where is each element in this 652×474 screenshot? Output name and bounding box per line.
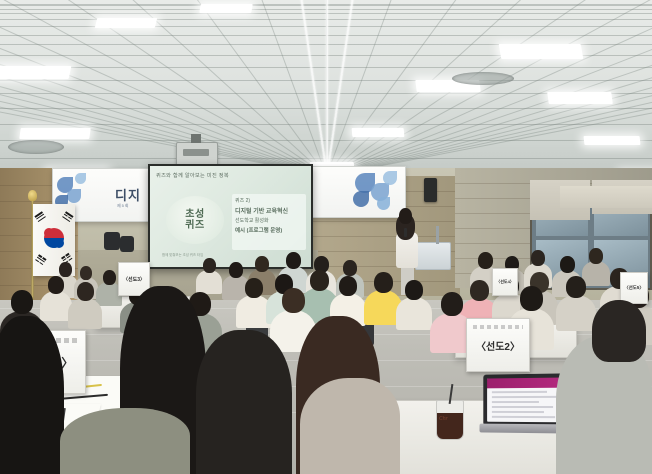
audience-member-torso bbox=[68, 298, 102, 329]
audience-member-head bbox=[589, 248, 603, 264]
audience-member-head bbox=[103, 270, 116, 285]
audience-member-torso bbox=[556, 295, 596, 331]
laptop-header-bar bbox=[487, 377, 566, 388]
audience-member-head bbox=[282, 288, 305, 313]
audience-member-head bbox=[77, 282, 94, 301]
audience-member bbox=[556, 276, 596, 334]
iced-coffee-cup: Chr bbox=[436, 400, 464, 440]
audience-member-head bbox=[478, 252, 493, 269]
tent-card: 〈선도2〉 bbox=[466, 318, 530, 372]
foreground-person-shoulder bbox=[300, 378, 400, 474]
tent-card-label: 〈선도5〉 bbox=[624, 285, 644, 291]
audience-member-head bbox=[566, 276, 586, 298]
audience-member-head bbox=[286, 252, 301, 269]
audience-member-head bbox=[339, 276, 357, 296]
tent-card-label: 〈선도4〉 bbox=[496, 279, 514, 285]
foreground-person bbox=[0, 316, 64, 474]
audience-member-head bbox=[48, 276, 64, 294]
audience-member-head bbox=[245, 278, 263, 298]
foreground-person-shoulder bbox=[60, 408, 190, 474]
foreground-person-head bbox=[592, 300, 646, 362]
tent-card-label: 〈선도2〉 bbox=[476, 338, 520, 353]
tent-card-label: 〈선도3〉 bbox=[123, 276, 145, 283]
audience-member bbox=[68, 282, 102, 332]
tent-card: 〈선도5〉 bbox=[620, 272, 648, 304]
audience-member-head bbox=[343, 260, 357, 276]
tent-card: 〈선도4〉 bbox=[492, 268, 518, 296]
cup-brand-label: Chr bbox=[439, 416, 448, 422]
audience-member-head bbox=[560, 256, 575, 273]
audience-member-torso bbox=[196, 270, 222, 294]
audience-member-head bbox=[374, 272, 393, 293]
audience-member-head bbox=[441, 292, 463, 316]
foreground-person bbox=[196, 330, 292, 474]
audience-member-head bbox=[59, 262, 72, 277]
audience-member-head bbox=[203, 258, 216, 273]
seminar-room-photo: 디지 제5회 회 퀴즈와 함께 알아보는 미진 정복 초성 퀴즈 함께 맞춰보는… bbox=[0, 0, 652, 474]
audience-member-head bbox=[255, 256, 269, 272]
audience-member-head bbox=[80, 266, 92, 280]
audience-member bbox=[396, 280, 432, 333]
audience-member-head bbox=[520, 286, 543, 311]
audience-member-torso bbox=[396, 297, 432, 330]
audience-member-head bbox=[11, 290, 33, 314]
audience-member-head bbox=[531, 250, 545, 266]
audience-member-head bbox=[405, 280, 423, 300]
audience-member-head bbox=[229, 262, 243, 278]
